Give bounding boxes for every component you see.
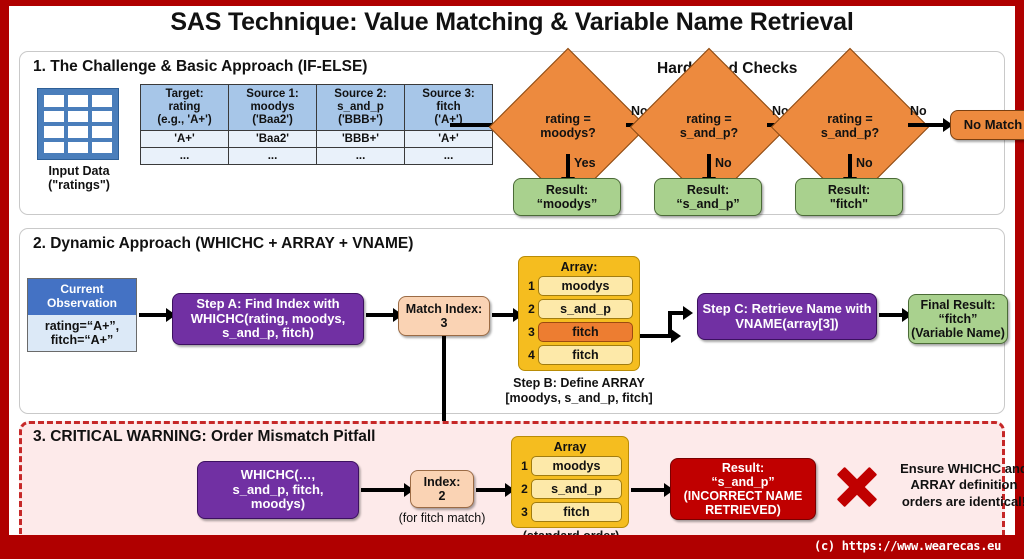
decision-1: rating =moodys? [509,84,627,168]
array-row: 3 fitch [518,502,622,522]
array-index: 3 [525,325,538,339]
current-observation-header: CurrentObservation [28,279,136,315]
section-1-heading: 1. The Challenge & Basic Approach (IF-EL… [33,58,367,76]
array-index: 2 [518,482,531,496]
step-b-caption: Step B: Define ARRAY[moodys, s_and_p, fi… [495,376,663,406]
array-row: 1 moodys [518,456,622,476]
table-cell: ... [405,147,493,164]
arrow-index-to-array [476,488,506,492]
array-title: Array [518,440,622,454]
arrow-observation-to-step-a [139,313,167,317]
array-cell: moodys [531,456,622,476]
table-row: 'A+' 'Baa2' 'BBB+' 'A+' [141,130,493,147]
arrow-whichc-to-index [361,488,405,492]
footer-watermark: (c) https://www.wearecas.eu [814,539,1001,553]
table-cell: 'A+' [141,130,229,147]
array-row: 3 fitch [525,322,633,342]
index-box: Index:2 [410,470,474,508]
array-index: 2 [525,302,538,316]
array-widget-section-3: Array 1 moodys 2 s_and_p 3 fitch [511,436,629,528]
red-x-icon [829,458,885,514]
table-cell: 'BBB+' [317,130,405,147]
section-3-heading: 3. CRITICAL WARNING: Order Mismatch Pitf… [33,428,375,446]
spreadsheet-grid-icon [37,88,119,160]
array-widget-section-2: Array: 1 moodys 2 s_and_p 3 fitch 4 fitc… [518,256,640,371]
incorrect-result-box: Result:“s_and_p”(INCORRECT NAMERETRIEVED… [670,458,816,520]
decision-1-label: rating =moodys? [509,84,627,168]
arrow-step-c-to-final-result [879,313,903,317]
table-cell: ... [229,147,317,164]
arrow-array-to-step-c-elbow [668,313,672,338]
no-match-box: No Match [950,110,1024,140]
array-index: 3 [518,505,531,519]
arrow-match-index-to-array [492,313,514,317]
array-row: 1 moodys [525,276,633,296]
table-cell: ... [141,147,229,164]
section-2-heading: 2. Dynamic Approach (WHICHC + ARRAY + VN… [33,235,413,253]
decision-2: rating =s_and_p? [650,84,768,168]
table-header-cell: Source 2:s_and_p('BBB+') [317,85,405,131]
step-c-box: Step C: Retrieve Name withVNAME(array[3]… [697,293,877,340]
decision-3-label: rating =s_and_p? [791,84,909,168]
table-header-row: Target:rating(e.g., 'A+') Source 1:moody… [141,85,493,131]
footer-bar: (c) https://www.wearecas.eu [0,535,1024,559]
array-cell: s_and_p [531,479,622,499]
table-cell: 'A+' [405,130,493,147]
whichc-wrong-order-box: WHICHC(…,s_and_p, fitch,moodys) [197,461,359,519]
array-cell: moodys [538,276,633,296]
table-header-cell: Source 1:moodys('Baa2') [229,85,317,131]
table-row: ... ... ... ... [141,147,493,164]
result-box-3: Result:"fitch" [795,178,903,216]
array-cell: fitch [531,502,622,522]
poster-canvas: SAS Technique: Value Matching & Variable… [9,6,1015,559]
input-data-caption-line2: ("ratings") [19,178,139,192]
array-cell-highlighted: fitch [538,322,633,342]
match-index-box: Match Index:3 [398,296,490,336]
input-data-caption: Input Data ("ratings") [19,164,139,193]
array-index: 1 [525,279,538,293]
decision-3: rating =s_and_p? [791,84,909,168]
arrow-array-to-step-c-seg2 [668,311,684,315]
array-index: 1 [518,459,531,473]
index-note: (for fitch match) [390,511,494,526]
result-box-2: Result:“s_and_p” [654,178,762,216]
page-title: SAS Technique: Value Matching & Variable… [9,8,1015,37]
step-a-box: Step A: Find Index withWHICHC(rating, mo… [172,293,364,345]
array-cell: s_and_p [538,299,633,319]
array-index: 4 [525,348,538,362]
decision-2-label: rating =s_and_p? [650,84,768,168]
array-row: 2 s_and_p [518,479,622,499]
array-title: Array: [525,260,633,274]
array-row: 2 s_and_p [525,299,633,319]
array-cell: fitch [538,345,633,365]
poster-root: SAS Technique: Value Matching & Variable… [0,0,1024,559]
arrow-decision-3-no [908,123,944,127]
ratings-table: Target:rating(e.g., 'A+') Source 1:moody… [140,84,493,165]
table-header-cell: Target:rating(e.g., 'A+') [141,85,229,131]
edge-label-no-3: No [910,104,927,118]
current-observation-body: rating=“A+”,fitch=“A+” [28,315,136,352]
arrow-array-to-result [631,488,665,492]
input-data-caption-line1: Input Data [19,164,139,178]
warning-advice-text: Ensure WHICHC andARRAY definitionorders … [889,461,1024,510]
array-row: 4 fitch [525,345,633,365]
arrow-step-a-to-match-index [366,313,394,317]
result-box-1: Result:“moodys” [513,178,621,216]
current-observation-box: CurrentObservation rating=“A+”,fitch=“A+… [27,278,137,352]
table-cell: 'Baa2' [229,130,317,147]
final-result-box: Final Result:“fitch”(Variable Name) [908,294,1008,344]
table-cell: ... [317,147,405,164]
